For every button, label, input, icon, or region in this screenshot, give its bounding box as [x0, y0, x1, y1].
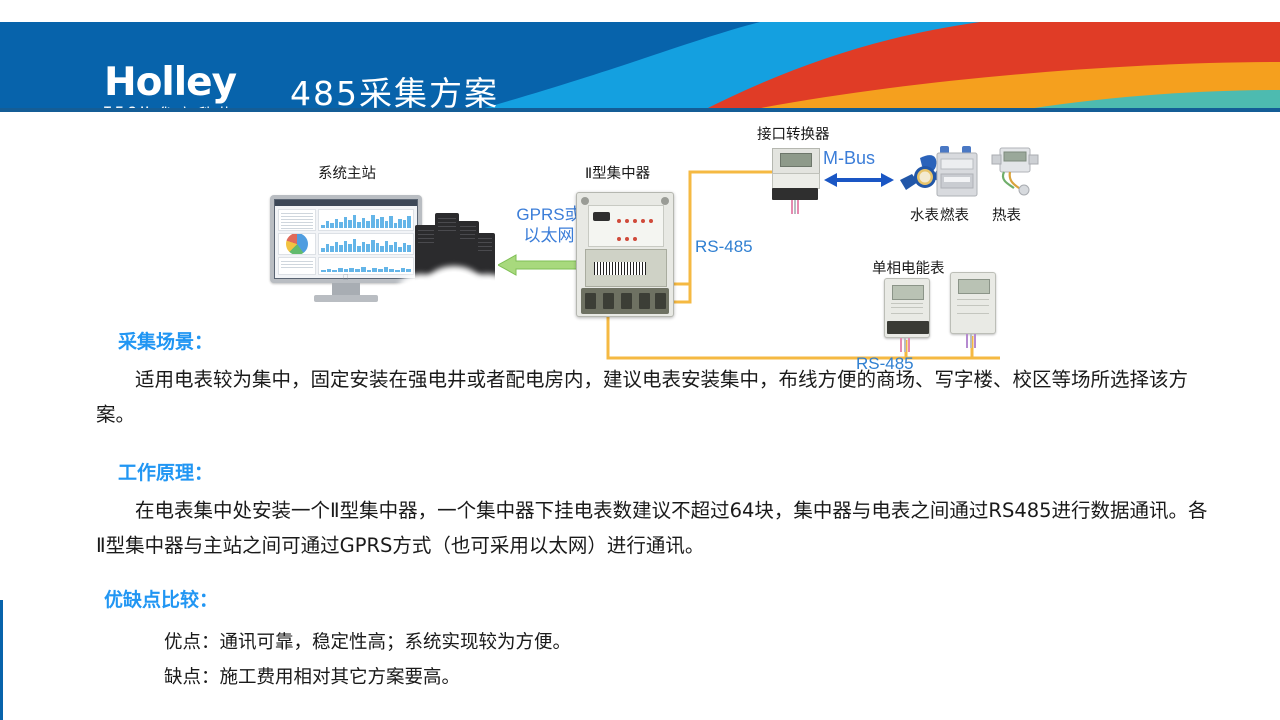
section-heading-scenario: 采集场景：	[118, 327, 213, 354]
bullet-cons: 缺点：施工费用相对其它方案要高。	[164, 663, 460, 689]
interface-converter-device	[772, 148, 818, 200]
bullet-pros: 优点：通讯可靠，稳定性高；系统实现较为方便。	[164, 628, 571, 654]
holley-logo: Holley TECH 华 立 科 技	[104, 64, 264, 112]
label-gas-meter: 燃表	[940, 204, 969, 225]
apple-logo-icon: 	[343, 273, 349, 282]
slide-root: Holley TECH 华 立 科 技 485采集方案 系统主站	[0, 0, 1280, 720]
logo-wordmark: Holley	[104, 64, 264, 102]
label-concentrator: Ⅱ型集中器	[585, 162, 650, 183]
label-master-station: 系统主站	[318, 162, 376, 183]
label-heat-meter: 热表	[992, 204, 1021, 225]
section-heading-comparison: 优缺点比较：	[104, 585, 218, 612]
paragraph-principle: 在电表集中处安装一个Ⅱ型集中器，一个集中器下挂电表数建议不超过64块，集中器与电…	[96, 493, 1214, 563]
heat-meter-device	[988, 146, 1040, 198]
page-title: 485采集方案	[290, 67, 499, 112]
label-rs485-upper: RS-485	[695, 237, 753, 257]
mbus-double-arrow-icon	[824, 172, 894, 188]
label-mbus: M-Bus	[823, 148, 875, 169]
gas-meter-device	[936, 146, 978, 198]
single-phase-meter-1	[884, 278, 930, 338]
label-water-meter: 水表	[910, 204, 939, 225]
single-phase-meter-2	[950, 272, 996, 334]
left-edge-accent-strip	[0, 600, 3, 720]
label-interface-converter: 接口转换器	[757, 123, 830, 144]
slide-header: Holley TECH 华 立 科 技 485采集方案	[0, 22, 1280, 112]
paragraph-scenario: 适用电表较为集中，固定安装在强电井或者配电房内，建议电表安装集中，布线方便的商场…	[96, 362, 1208, 432]
section-heading-principle: 工作原理：	[118, 458, 213, 485]
label-single-phase-meter: 单相电能表	[872, 257, 945, 278]
type-ii-concentrator-device	[576, 192, 674, 317]
